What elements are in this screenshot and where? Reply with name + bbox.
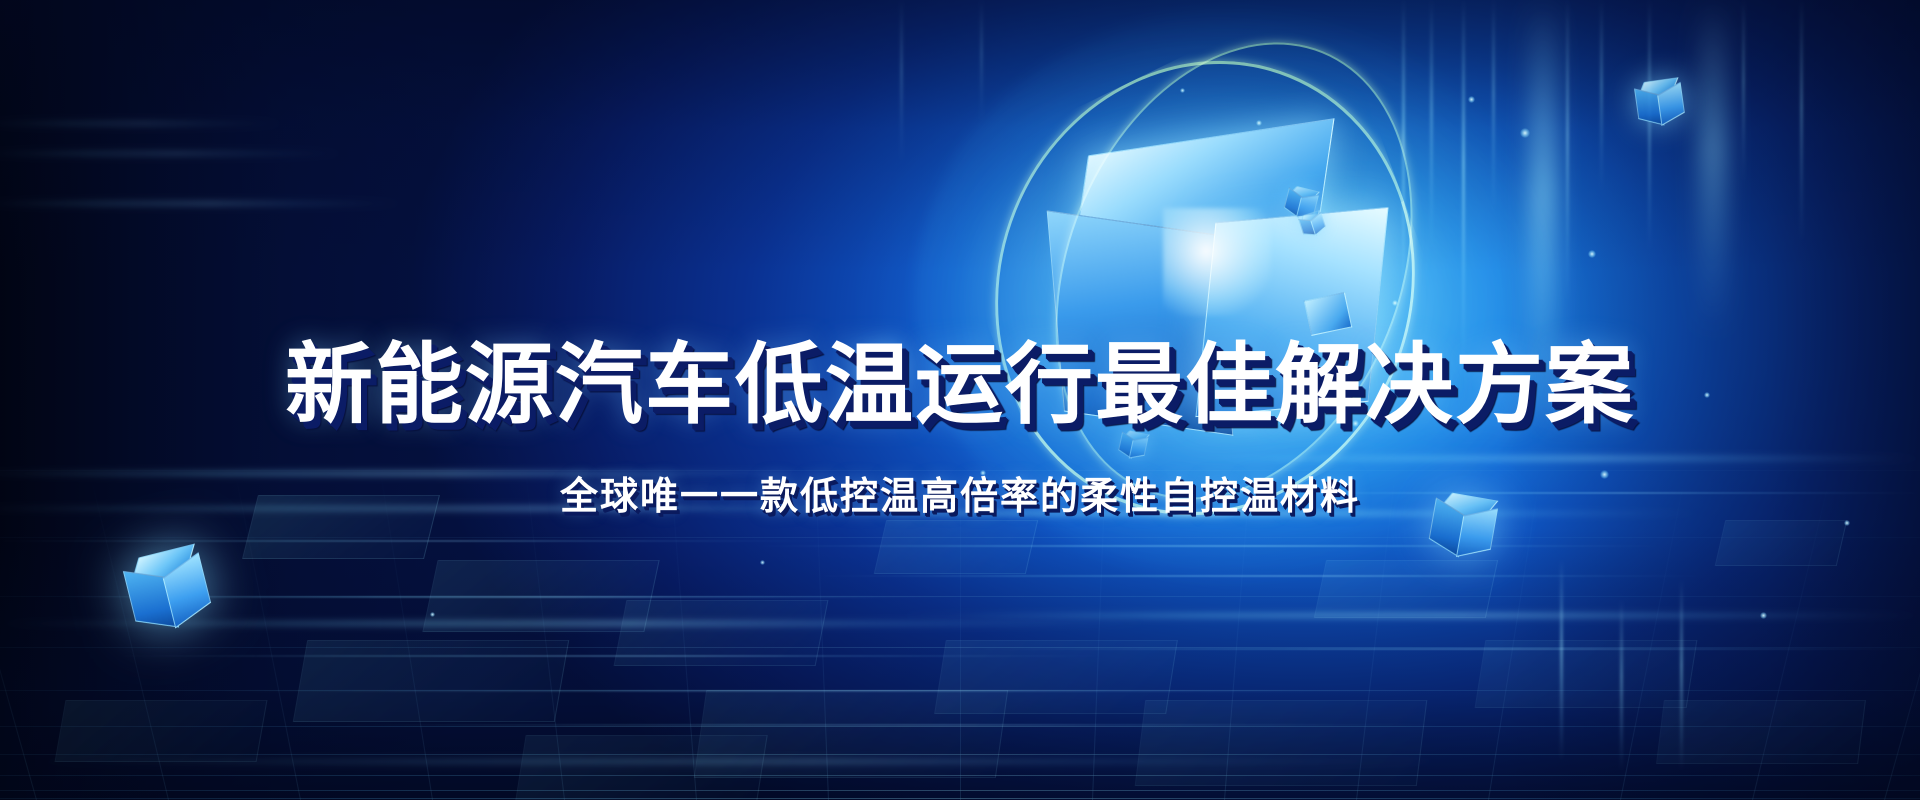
page-subtitle: 全球唯一一款低控温高倍率的柔性自控温材料 — [560, 478, 1360, 516]
sparkle — [1468, 96, 1475, 103]
light-beam — [1742, 0, 1745, 180]
light-beam — [1566, 0, 1569, 300]
sparkle — [1520, 128, 1530, 138]
light-streak — [0, 150, 340, 157]
sparkle — [1760, 612, 1767, 619]
hero-banner: 新能源汽车低温运行最佳解决方案 全球唯一一款低控温高倍率的柔性自控温材料 — [0, 0, 1920, 800]
sparkle — [1256, 120, 1262, 126]
page-title: 新能源汽车低温运行最佳解决方案 — [285, 341, 1635, 429]
floating-cube — [1633, 75, 1685, 127]
sparkle — [760, 560, 765, 565]
sparkle — [1180, 88, 1185, 93]
tech-panel — [1475, 640, 1698, 708]
tech-panel — [293, 640, 569, 722]
sparkle — [430, 612, 435, 617]
light-streak — [0, 200, 400, 207]
sparkle — [1588, 250, 1596, 258]
tech-panel — [1135, 700, 1428, 786]
subtitle-container: 全球唯一一款低控温高倍率的柔性自控温材料 — [0, 446, 1920, 547]
tech-panel — [514, 735, 767, 800]
tech-panel — [1314, 560, 1498, 618]
tech-panel — [934, 640, 1178, 714]
light-beam — [980, 0, 983, 120]
light-beam — [1600, 0, 1603, 190]
tech-panel — [614, 600, 829, 666]
light-beam — [900, 0, 903, 160]
tech-panel — [55, 700, 268, 762]
light-beam — [1700, 0, 1726, 330]
light-beam — [1800, 0, 1803, 240]
tech-panel — [1656, 700, 1866, 764]
